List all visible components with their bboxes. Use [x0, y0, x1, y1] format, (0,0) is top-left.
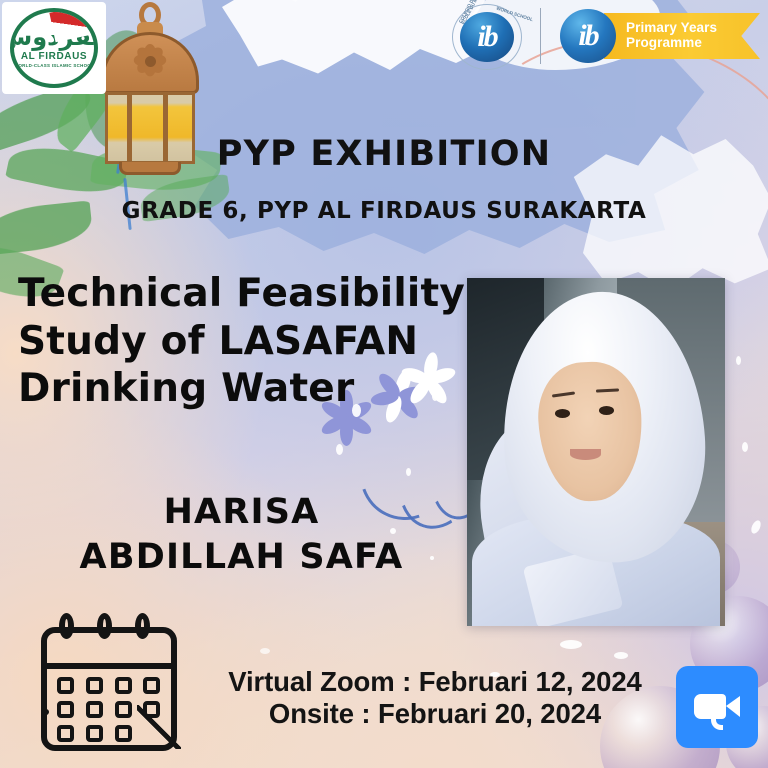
- speckle: [406, 468, 411, 476]
- event-title: PYP EXHIBITION: [0, 134, 768, 174]
- event-subtitle: GRADE 6, PYP AL FIRDAUS SURAKARTA: [0, 198, 768, 224]
- student-photo: [467, 278, 725, 626]
- zoom-video-icon: [676, 666, 758, 748]
- calendar-icon: [35, 613, 183, 751]
- pyp-exhibition-poster: الفردوس AL FIRDAUS WORLD-CLASS ISLAMIC S…: [0, 0, 768, 768]
- al-firdaus-school-logo: الفردوس AL FIRDAUS WORLD-CLASS ISLAMIC S…: [2, 2, 106, 94]
- logo-school-tagline: WORLD-CLASS ISLAMIC SCHOOL: [14, 63, 94, 68]
- project-title: Technical Feasibility Study of LASAFAN D…: [18, 270, 468, 413]
- speckle: [260, 648, 270, 654]
- pyp-banner: Primary Years Programme: [604, 13, 760, 59]
- logo-divider: [540, 8, 541, 64]
- speckle: [560, 640, 582, 649]
- ib-world-school-logo: COLEGIO DEL MUNDO WORLD SCHOOL ÉCOLE DU …: [452, 4, 522, 70]
- pyp-line-1: Primary Years: [626, 21, 760, 36]
- student-last-name: ABDILLAH SAFA: [14, 535, 469, 580]
- speckle: [336, 444, 343, 455]
- logo-school-name: AL FIRDAUS: [21, 51, 87, 62]
- project-title-line-1: Technical Feasibility: [18, 270, 468, 318]
- pyp-programme-logo: ib Primary Years Programme: [560, 6, 760, 66]
- speckle: [742, 442, 748, 452]
- speckle: [614, 652, 628, 659]
- pyp-ib-badge: ib: [560, 9, 616, 63]
- student-name: HARISA ABDILLAH SAFA: [14, 490, 469, 580]
- pyp-line-2: Programme: [626, 36, 760, 51]
- student-first-name: HARISA: [14, 490, 469, 535]
- project-title-line-2: Study of LASAFAN: [18, 318, 468, 366]
- speckle: [749, 519, 762, 535]
- project-title-line-3: Drinking Water: [18, 365, 468, 413]
- ib-wordmark: ib: [578, 21, 597, 51]
- ib-wordmark: ib: [477, 22, 496, 52]
- speckle: [736, 356, 741, 365]
- virtual-zoom-date: Virtual Zoom : Februari 12, 2024: [180, 666, 690, 698]
- onsite-date: Onsite : Februari 20, 2024: [180, 698, 690, 730]
- schedule-dates: Virtual Zoom : Februari 12, 2024 Onsite …: [180, 666, 690, 731]
